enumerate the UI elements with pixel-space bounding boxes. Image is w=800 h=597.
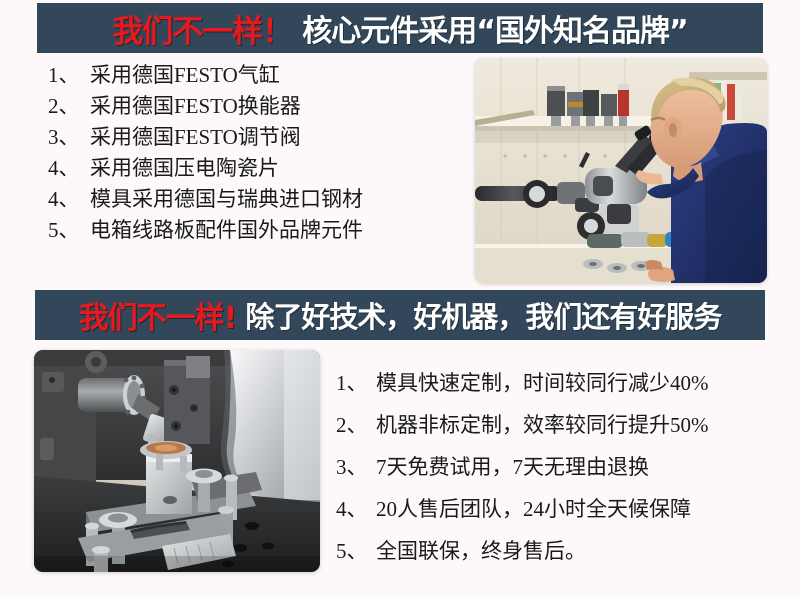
list-item-label: 全国联保，终身售后。 [376,530,586,572]
list-item: 4、 20人售后团队，24小时全天候保障 [336,488,709,530]
banner-bottom: 我们不一样! 除了好技术，好机器，我们还有好服务 [35,290,765,340]
welding-tooling-illustration [34,350,320,572]
list-item-label: 采用德国压电陶瓷片 [90,153,279,184]
banner-bottom-highlight: 我们不一样! [79,293,237,337]
list-item-label: 模具快速定制，时间较同行减少40% [376,362,709,404]
list-item: 5、 全国联保，终身售后。 [336,530,709,572]
feature-list-components: 1、 采用德国FESTO气缸 2、 采用德国FESTO换能器 3、 采用德国FE… [48,60,363,246]
list-item-index: 3、 [48,122,90,153]
list-item: 2、 机器非标定制，效率较同行提升50% [336,404,709,446]
list-item-label: 机器非标定制，效率较同行提升50% [376,404,709,446]
list-item-index: 2、 [336,404,376,446]
list-item: 3、 7天免费试用，7天无理由退换 [336,446,709,488]
list-item-label: 电箱线路板配件国外品牌元件 [90,215,363,246]
list-item-label: 20人售后团队，24小时全天候保障 [376,488,691,530]
list-item-label: 模具采用德国与瑞典进口钢材 [90,184,363,215]
banner-top-title: 核心元件采用“国外知名品牌” [302,6,687,50]
banner-top-highlight: 我们不一样！ [112,6,292,51]
list-item-index: 2、 [48,91,90,122]
list-item-index: 4、 [336,488,376,530]
list-item: 1、 采用德国FESTO气缸 [48,60,363,91]
list-item: 2、 采用德国FESTO换能器 [48,91,363,122]
list-item: 3、 采用德国FESTO调节阀 [48,122,363,153]
list-item-index: 3、 [336,446,376,488]
list-item-label: 采用德国FESTO气缸 [90,60,280,91]
microscope-inspection-photo [475,58,767,283]
list-item: 4、 模具采用德国与瑞典进口钢材 [48,184,363,215]
list-item-index: 1、 [336,362,376,404]
banner-top: 我们不一样！ 核心元件采用“国外知名品牌” [37,3,763,53]
list-item-index: 4、 [48,153,90,184]
list-item-label: 采用德国FESTO换能器 [90,91,301,122]
list-item: 1、 模具快速定制，时间较同行减少40% [336,362,709,404]
list-item: 5、 电箱线路板配件国外品牌元件 [48,215,363,246]
promo-page: 我们不一样！ 核心元件采用“国外知名品牌” 1、 采用德国FESTO气缸 2、 … [0,0,800,597]
feature-list-service: 1、 模具快速定制，时间较同行减少40% 2、 机器非标定制，效率较同行提升50… [336,362,709,572]
list-item-label: 采用德国FESTO调节阀 [90,122,301,153]
list-item-index: 5、 [48,215,90,246]
list-item-index: 5、 [336,530,376,572]
list-item: 4、 采用德国压电陶瓷片 [48,153,363,184]
welding-tooling-photo [34,350,320,572]
list-item-label: 7天免费试用，7天无理由退换 [376,446,649,488]
list-item-index: 4、 [48,184,90,215]
list-item-index: 1、 [48,60,90,91]
banner-bottom-title: 除了好技术，好机器，我们还有好服务 [245,294,721,336]
microscope-inspection-illustration [475,58,767,283]
